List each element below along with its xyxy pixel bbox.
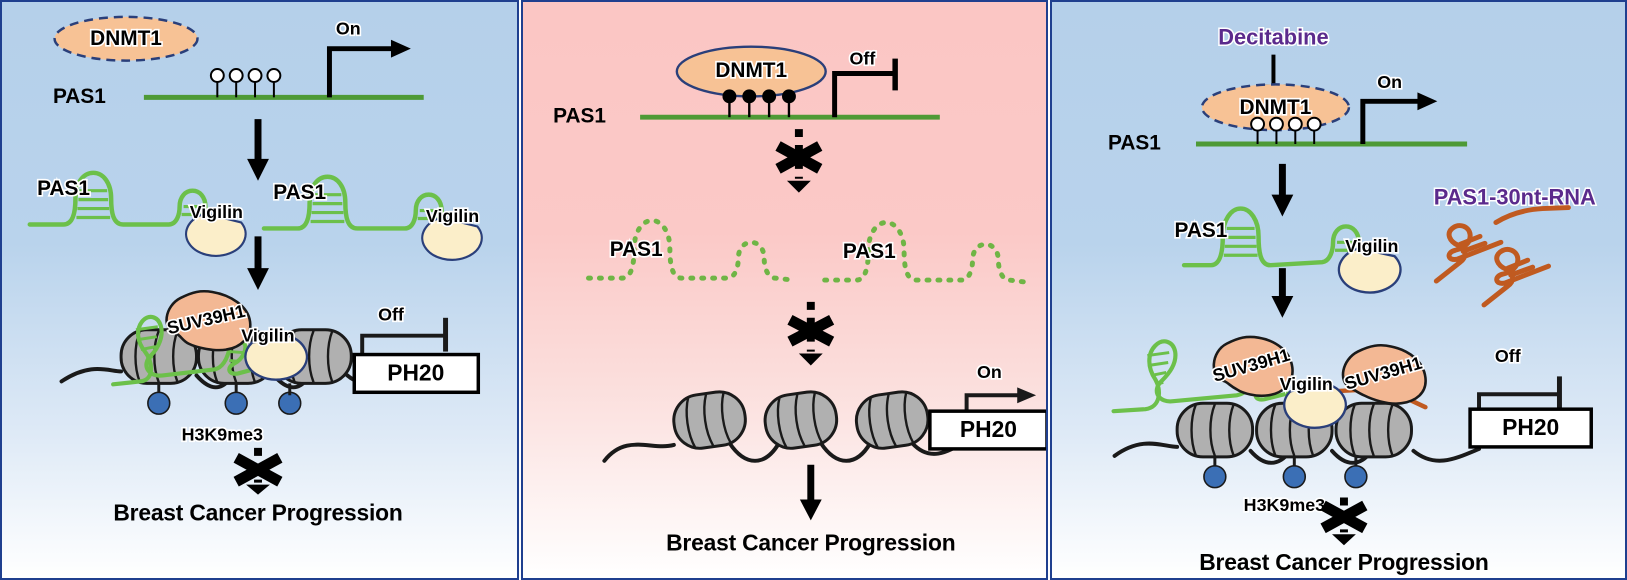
decitabine-label: Decitabine <box>1218 25 1328 50</box>
ph20-activation: On PH20 <box>930 362 1046 449</box>
vigilin-left-label: Vigilin <box>190 202 243 222</box>
vigilin-right-label: Vigilin <box>426 206 479 226</box>
h3k9me3-dot-3 <box>1345 466 1367 488</box>
transcription-start-arrow-on: On <box>329 19 410 98</box>
transcription-start-arrow-on: On <box>1363 72 1437 144</box>
nucleosome-1 <box>670 389 748 452</box>
vigilin-chromatin-label: Vigilin <box>1280 374 1333 394</box>
block-x-icon <box>1323 506 1365 529</box>
pas1-gene-label: PAS1 <box>553 105 606 128</box>
pas1-lncrna-left: PAS1 Vigilin <box>30 173 246 256</box>
ph20-label: PH20 <box>387 359 444 385</box>
pas1-rna-left-label: PAS1 <box>610 238 663 261</box>
pas1-30nt-rna-group: PAS1-30nt-RNA <box>1434 184 1596 304</box>
vigilin-right: Vigilin <box>422 206 482 260</box>
h3k9me3-dot-1 <box>1204 466 1226 488</box>
blocked-arrow-1 <box>778 129 820 193</box>
flow-arrow-2 <box>247 236 269 290</box>
pas1-30nt-rna-label: PAS1-30nt-RNA <box>1434 184 1596 209</box>
decitabine-inhibition: Decitabine <box>1218 25 1328 88</box>
flow-arrow-2 <box>1271 268 1293 318</box>
transcription-off-bar: Off <box>835 48 896 117</box>
pas1-rna-right-label: PAS1 <box>843 240 896 263</box>
dnmt1-label: DNMT1 <box>715 59 787 82</box>
dnmt1-complex: DNMT1 <box>55 17 198 61</box>
flow-arrow-1 <box>247 119 269 181</box>
dnmt1-label: DNMT1 <box>1240 96 1312 119</box>
pas1-rna-label: PAS1 <box>1175 219 1228 242</box>
outcome-label: Breast Cancer Progression <box>113 499 402 525</box>
ph20-off-label: Off <box>1495 346 1521 366</box>
degraded-pas1-rna-right: PAS1 <box>825 222 1025 282</box>
nucleosome-3 <box>1336 403 1411 457</box>
ph20-off-label: Off <box>378 305 404 325</box>
h3k9me3-label: H3K9me3 <box>1244 495 1325 515</box>
h3k9me3-dot-2 <box>225 392 247 414</box>
h3k9me3-dot-3 <box>279 392 301 414</box>
ph20-label: PH20 <box>1502 414 1559 440</box>
ph20-repression: Off PH20 <box>1470 346 1591 449</box>
rna-mimic-strands <box>1436 208 1568 305</box>
block-x-icon <box>236 458 280 482</box>
pas1-gene-label: PAS1 <box>1108 132 1161 155</box>
degraded-pas1-rna-left: PAS1 <box>588 220 792 280</box>
chromatin-complex: H3K9me3 <box>62 291 479 444</box>
ph20-repression: Off PH20 <box>354 305 478 393</box>
transcription-off-label: Off <box>850 48 876 68</box>
panel-3-decitabine: Decitabine DNMT1 PAS1 <box>1050 0 1627 580</box>
nucleosome-2 <box>762 389 840 452</box>
vigilin: Vigilin <box>1339 236 1401 292</box>
chromatin-complex: H3K9me3 <box>1114 337 1592 515</box>
cpg-lollipops-unmethylated <box>211 69 280 97</box>
h3k9me3-marks: H3K9me3 <box>148 383 301 444</box>
vigilin-left: Vigilin <box>186 202 246 256</box>
pas1-rna-left-label: PAS1 <box>37 177 90 200</box>
dnmt1-label: DNMT1 <box>90 27 162 50</box>
h3k9me3-marks: H3K9me3 <box>1204 457 1367 515</box>
figure-root: DNMT1 PAS1 On <box>0 0 1627 580</box>
flow-arrow-1 <box>1271 164 1293 217</box>
panel-2-hypermethylated: DNMT1 PAS1 Off <box>521 0 1048 580</box>
h3k9me3-dot-2 <box>1283 466 1305 488</box>
outcome-blocked-arrow <box>1323 498 1365 546</box>
transcription-on-label: On <box>336 19 361 39</box>
pas1-lncrna: PAS1 Vigilin <box>1175 209 1401 293</box>
nucleosome-3 <box>853 389 931 452</box>
panel-2-canvas: DNMT1 PAS1 Off <box>523 2 1046 578</box>
pas1-rna-right-label: PAS1 <box>273 181 326 204</box>
outcome-label: Breast Cancer Progression <box>1199 549 1488 575</box>
panel-1-normal: DNMT1 PAS1 On <box>0 0 519 580</box>
nucleosome-1 <box>1177 403 1252 457</box>
outcome-label: Breast Cancer Progression <box>666 529 955 555</box>
transcription-on-label: On <box>977 362 1002 382</box>
chromatin-complex-open: On PH20 <box>604 362 1046 461</box>
pas1-gene-label: PAS1 <box>53 85 106 108</box>
blocked-arrow-2 <box>790 302 832 366</box>
outcome-blocked-arrow <box>236 448 280 495</box>
transcription-on-label: On <box>1377 72 1402 92</box>
panel-3-canvas: Decitabine DNMT1 PAS1 <box>1052 2 1625 578</box>
vigilin-label: Vigilin <box>1345 236 1398 256</box>
dnmt1-bound-complex: DNMT1 <box>677 47 826 97</box>
ph20-label: PH20 <box>960 416 1017 442</box>
outcome-arrow <box>800 465 822 521</box>
h3k9me3-dot-1 <box>148 392 170 414</box>
vigilin-chromatin-label: Vigilin <box>241 325 294 345</box>
h3k9me3-label: H3K9me3 <box>182 425 263 445</box>
panel-1-canvas: DNMT1 PAS1 On <box>2 2 517 578</box>
suv39h1-right: SUV39H1 <box>1342 345 1425 403</box>
pas1-lncrna-right: PAS1 Vigilin <box>264 177 482 260</box>
